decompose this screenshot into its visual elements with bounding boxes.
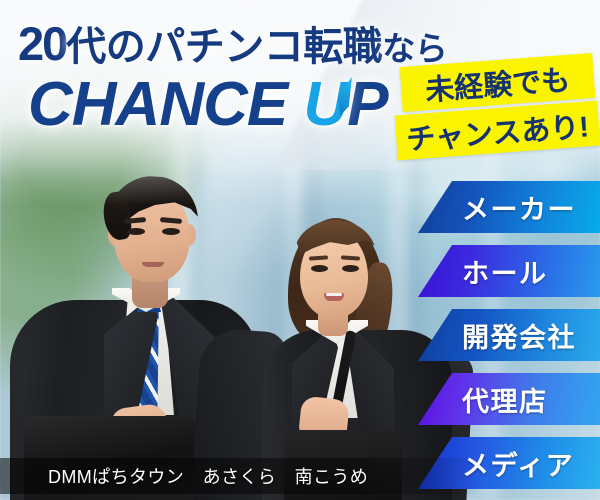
category-button-development-company[interactable]: 開発会社 — [418, 309, 600, 361]
promo-banner: 20代のパチンコ転職なら CHANCE UP 未経験でも チャンスあり! メーカ… — [0, 0, 600, 500]
caption-text: DMMぱちタウン あさくら 南こうめ — [0, 463, 368, 489]
category-button-agency[interactable]: 代理店 — [418, 373, 600, 425]
category-button-hall[interactable]: ホール — [418, 245, 600, 297]
category-list: メーカー ホール 開発会社 代理店 メディア — [0, 0, 600, 500]
category-label: メーカー — [462, 188, 576, 227]
category-label: 代理店 — [462, 380, 548, 419]
category-label: ホール — [462, 252, 548, 291]
category-button-maker[interactable]: メーカー — [418, 181, 600, 233]
category-label: 開発会社 — [462, 316, 576, 355]
caption-bar: DMMぱちタウン あさくら 南こうめ — [0, 458, 480, 494]
